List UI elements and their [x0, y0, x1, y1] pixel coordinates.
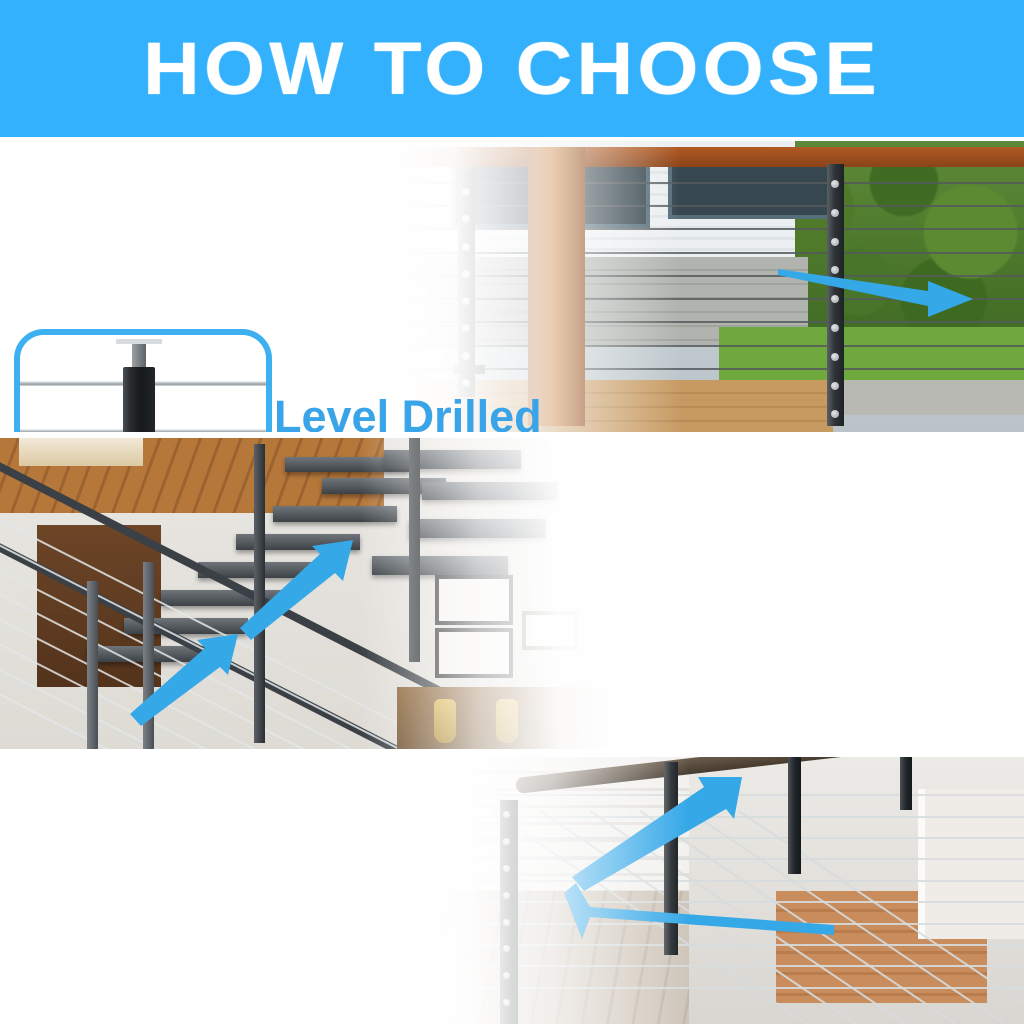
panel-30-degree-drilled: 30°-Drilled	[0, 438, 1024, 749]
label-level-drilled: Level Drilled	[274, 394, 542, 432]
photo-fade-right	[360, 438, 620, 749]
page-title: HOW TO CHOOSE	[143, 32, 881, 106]
balcony-corner-railing-photo	[404, 757, 1024, 1024]
header-banner: HOW TO CHOOSE	[0, 0, 1024, 137]
panel-l-drilled: L-Drilled	[0, 757, 1024, 1024]
outdoor-deck-railing-photo	[388, 141, 1024, 432]
interior-staircase-photo	[0, 438, 620, 749]
stair-arrow-upper	[240, 540, 353, 640]
photo-fade-left	[404, 757, 689, 1024]
stair-arrow-lower	[130, 634, 238, 726]
black-post	[123, 367, 155, 432]
post-stem	[132, 344, 146, 368]
panel-level-drilled: Level Drilled	[0, 141, 1024, 432]
photo-fade-left	[388, 141, 681, 432]
infographic-page: HOW TO CHOOSE	[0, 0, 1024, 1024]
level-drilled-thumbnail	[14, 329, 272, 432]
